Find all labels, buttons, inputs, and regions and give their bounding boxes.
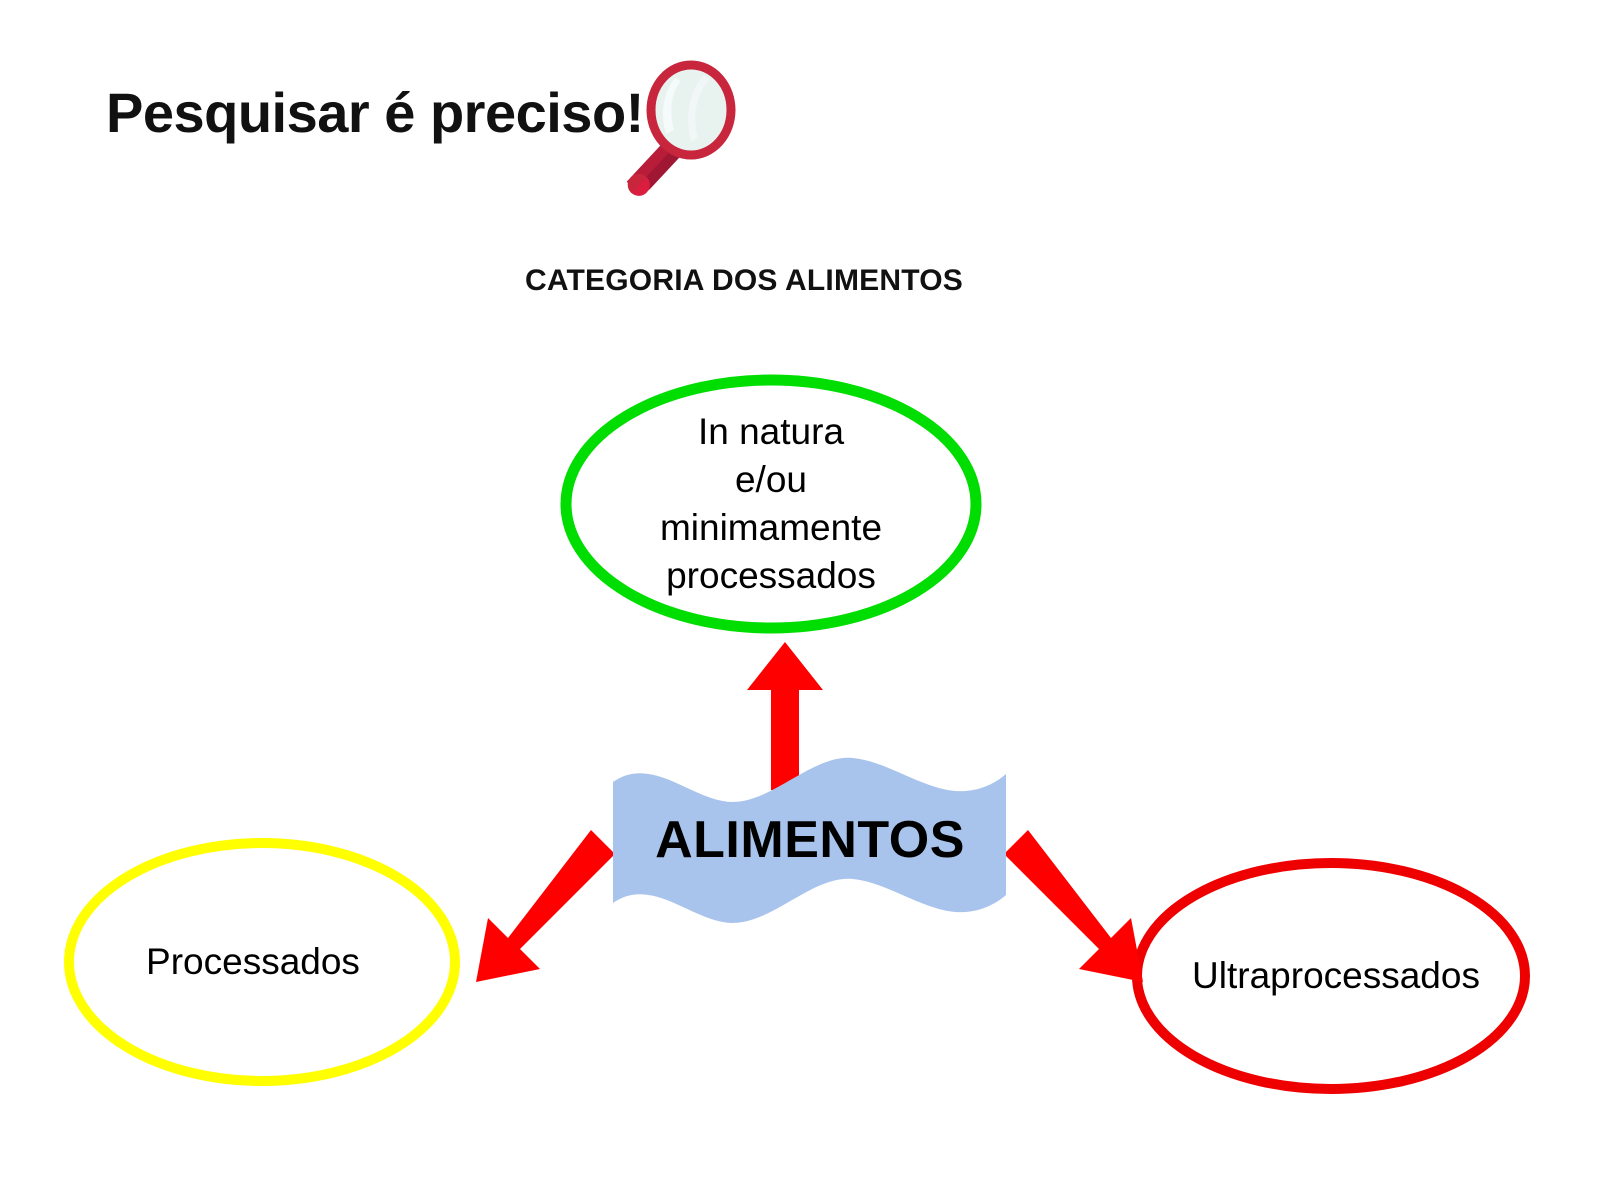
arrow-up-icon (747, 642, 823, 790)
node-ultraprocessados-ellipse[interactable] (1137, 863, 1525, 1089)
node-in-natura-ellipse[interactable] (566, 380, 976, 628)
arrow-down-right-icon (1004, 830, 1143, 982)
node-processados-ellipse[interactable] (69, 843, 455, 1081)
slide-canvas: Pesquisar é preciso! CATEGORIA DOS ALIME… (0, 0, 1600, 1200)
center-banner-shape[interactable] (613, 758, 1006, 923)
arrow-down-left-icon (476, 830, 615, 982)
food-category-diagram: In natura e/ou minimamente processados P… (0, 0, 1600, 1200)
